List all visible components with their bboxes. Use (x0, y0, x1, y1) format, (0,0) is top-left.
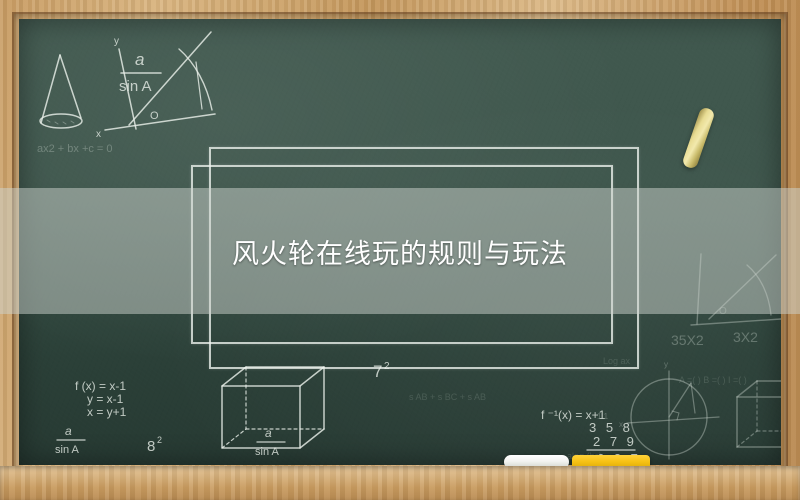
svg-text:x: x (619, 420, 623, 429)
inverse-function: f ⁻¹(x) = x+1 (541, 408, 606, 422)
faint-sets-expression: s AB + s BC + s AB (409, 392, 486, 402)
fraction-a-over-sinA-bottomleft: a sin A (55, 424, 85, 456)
svg-text:1 1: 1 1 (597, 412, 609, 421)
svg-text:y: y (114, 36, 119, 47)
svg-text:2: 2 (157, 435, 162, 445)
svg-text:y = x-1: y = x-1 (87, 392, 124, 406)
svg-text:8: 8 (147, 438, 155, 455)
cone-sketch (40, 55, 82, 128)
fraction-a-over-sinA-topleft: a sin A (119, 50, 161, 95)
svg-text:sin A: sin A (255, 446, 280, 458)
angle-protractor-topleft: y x O (96, 32, 215, 140)
title-container: 风火轮在线玩的规则与玩法 (0, 188, 800, 314)
svg-text:sin A: sin A (55, 444, 80, 456)
multiply-3x2: 3X2 (733, 329, 758, 345)
function-equations: f (x) = x-1 y = x-1 x = y+1 (75, 379, 127, 419)
multiply-35x2: 35X2 (671, 332, 704, 348)
svg-text:sin A: sin A (119, 78, 152, 95)
fraction-a-over-sinA-bottomcenter: a sin A (255, 426, 285, 458)
cube-sketch-center (222, 367, 324, 448)
svg-text:x = y+1: x = y+1 (87, 405, 127, 419)
eight-squared: 8 2 (147, 435, 162, 455)
svg-text:a: a (135, 50, 144, 69)
circle-axes-diagram: y x (619, 360, 719, 459)
svg-text:3 5 8: 3 5 8 (589, 420, 633, 435)
yellow-chalk-stick-icon (681, 106, 715, 170)
svg-text:f (x) = x-1: f (x) = x-1 (75, 379, 126, 393)
svg-text:a: a (265, 426, 272, 440)
chalkboard-banner: a sin A ax2 + bx +c = 0 y x O (0, 0, 800, 500)
svg-text:O: O (150, 110, 159, 122)
page-title: 风火轮在线玩的规则与玩法 (232, 232, 568, 271)
chalk-tray-ledge (0, 466, 800, 500)
cube-sketch-right (737, 381, 781, 447)
svg-text:y: y (664, 360, 668, 369)
svg-text:x: x (96, 129, 101, 140)
svg-text:2 7 9: 2 7 9 (593, 434, 637, 449)
matrix-notation: A =( ) B =( ) I =( ) (679, 375, 747, 385)
quadratic-equation: ax2 + bx +c = 0 (37, 143, 113, 155)
svg-text:A =( ) B =( ) I =( ): A =( ) B =( ) I =( ) (679, 375, 747, 385)
svg-text:a: a (65, 424, 72, 438)
